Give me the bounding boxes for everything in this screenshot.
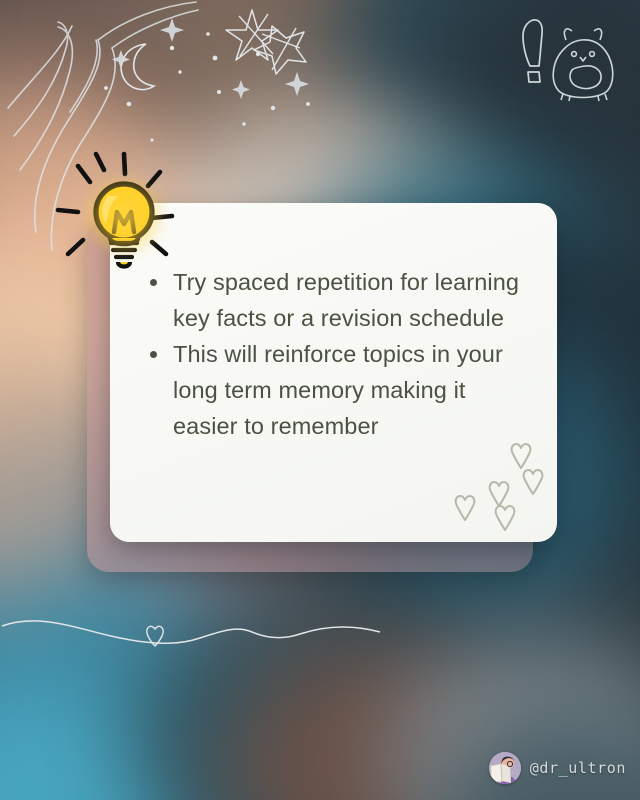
avatar (489, 752, 521, 784)
bullet-item: This will reinforce topics in your long … (142, 337, 529, 444)
watermark[interactable]: @dr_ultron (489, 752, 626, 784)
hearts-decoration (441, 440, 551, 540)
poster-canvas: Try spaced repetition for learning key f… (0, 0, 640, 800)
bullet-item: Try spaced repetition for learning key f… (142, 265, 529, 336)
lightbulb-icon (48, 148, 188, 273)
handle-text: @dr_ultron (530, 759, 626, 777)
lightbulb-glow (82, 174, 166, 258)
bullet-list: Try spaced repetition for learning key f… (142, 265, 529, 445)
